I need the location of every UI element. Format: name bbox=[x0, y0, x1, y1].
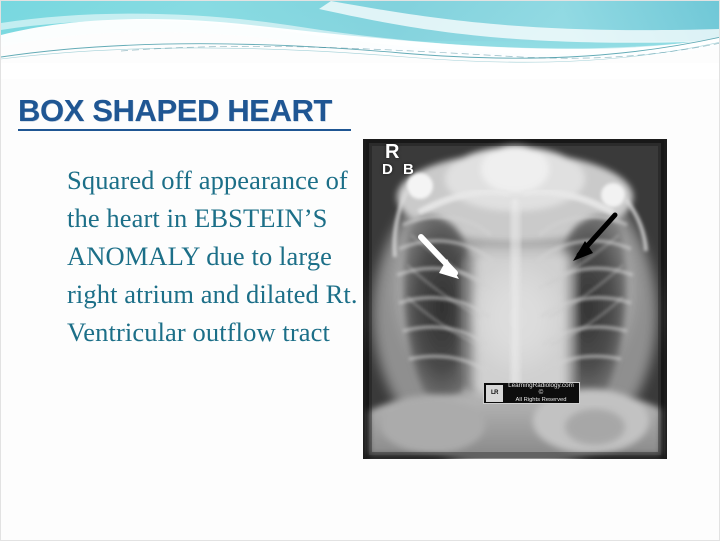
watermark-line-1: LearningRadiology.com © bbox=[505, 382, 577, 397]
header-wave-svg bbox=[1, 1, 720, 79]
slide-body-text: Squared off appearance of the heart in E… bbox=[67, 161, 359, 351]
chest-xray-svg bbox=[363, 139, 667, 459]
slide-title: BOX SHAPED HEART bbox=[18, 93, 418, 129]
chest-xray-image: R D B LR LearningRadiology.com © All Rig… bbox=[363, 139, 667, 459]
xray-initials-marker: D B bbox=[382, 161, 417, 178]
watermark-line-2: All Rights Reserved bbox=[505, 397, 577, 405]
slide-title-underline bbox=[18, 129, 351, 131]
presentation-slide: BOX SHAPED HEART Squared off appearance … bbox=[0, 0, 720, 541]
header-wave-decoration bbox=[1, 1, 720, 79]
learningradiology-logo: LR bbox=[486, 385, 503, 402]
xray-watermark: LR LearningRadiology.com © All Rights Re… bbox=[483, 382, 580, 404]
watermark-text: LearningRadiology.com © All Rights Reser… bbox=[503, 382, 577, 405]
